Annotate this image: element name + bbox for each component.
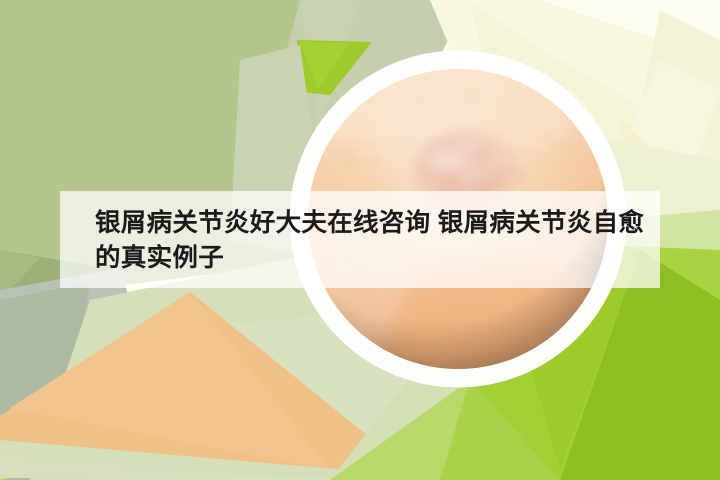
page-title: 银屑病关节炎好大夫在线咨询 银屑病关节炎自愈的真实例子 bbox=[95, 206, 655, 276]
thumbnail-card: 银屑病关节炎好大夫在线咨询 银屑病关节炎自愈的真实例子 bbox=[0, 0, 720, 480]
